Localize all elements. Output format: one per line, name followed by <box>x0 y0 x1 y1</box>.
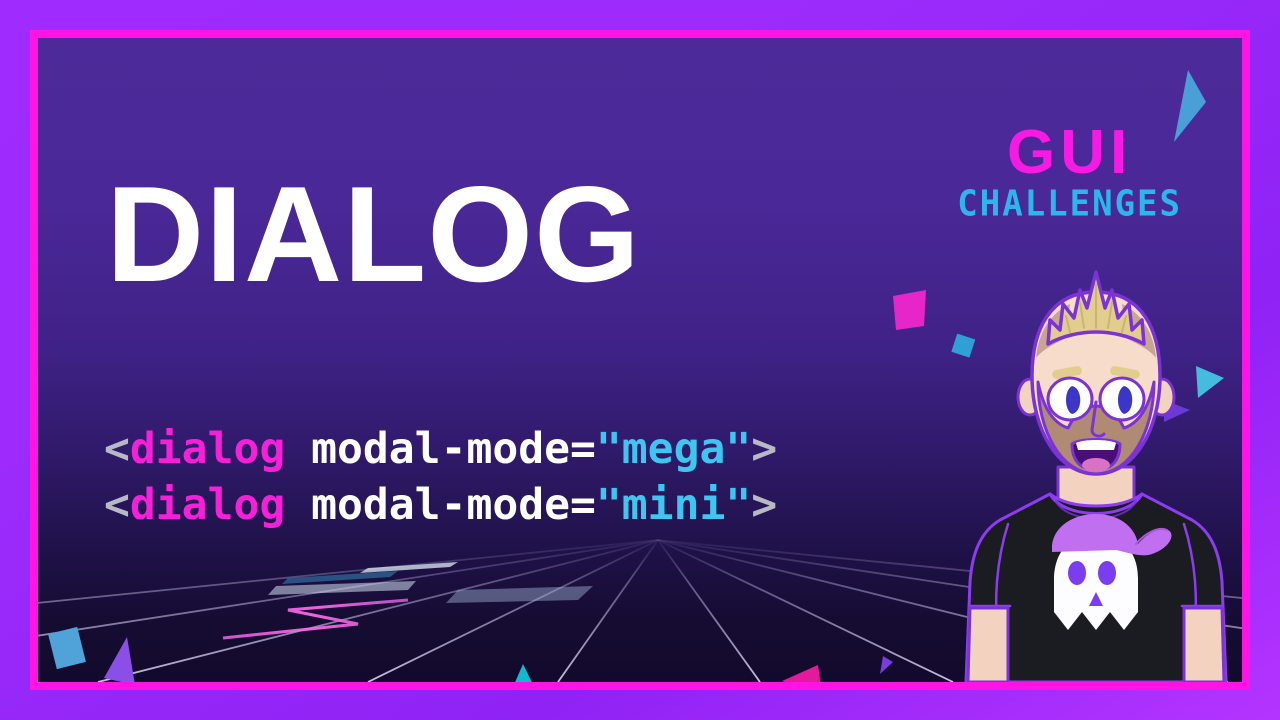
thumbnail-canvas: DIALOG <dialog modal-mode="mega"><dialog… <box>0 0 1280 720</box>
avatar <box>946 262 1242 682</box>
open-angle-bracket: < <box>104 424 130 474</box>
attribute-value: mega <box>622 424 726 474</box>
magenta-frame: DIALOG <dialog modal-mode="mega"><dialog… <box>30 30 1250 690</box>
close-angle-bracket: > <box>751 424 777 474</box>
space <box>285 480 311 530</box>
page-title: DIALOG <box>106 166 641 302</box>
code-snippet: <dialog modal-mode="mega"><dialog modal-… <box>104 422 777 534</box>
quote-close: " <box>725 424 751 474</box>
logo-challenges-text: CHALLENGES <box>957 186 1182 222</box>
magenta-quad-left-of-head <box>893 290 926 330</box>
open-angle-bracket: < <box>104 480 130 530</box>
code-line: <dialog modal-mode="mega"> <box>104 422 777 478</box>
attribute-name: modal-mode= <box>311 424 596 474</box>
attribute-name: modal-mode= <box>311 480 596 530</box>
logo-gui-text: GUI <box>957 124 1182 183</box>
gui-challenges-logo: GUI CHALLENGES <box>957 124 1182 221</box>
teeth <box>1076 440 1116 450</box>
close-angle-bracket: > <box>751 480 777 530</box>
code-line: <dialog modal-mode="mini"> <box>104 478 777 534</box>
attribute-value: mini <box>622 480 726 530</box>
right-arm <box>1184 608 1224 682</box>
quote-close: " <box>725 480 751 530</box>
quote-open: " <box>596 480 622 530</box>
tongue <box>1082 458 1110 472</box>
skull-eye-right <box>1098 561 1116 585</box>
tag-name: dialog <box>130 424 285 474</box>
skull-eye-left <box>1068 561 1086 585</box>
tag-name: dialog <box>130 480 285 530</box>
left-arm <box>968 608 1008 682</box>
quote-open: " <box>596 424 622 474</box>
space <box>285 424 311 474</box>
content-panel: DIALOG <dialog modal-mode="mega"><dialog… <box>38 38 1242 682</box>
